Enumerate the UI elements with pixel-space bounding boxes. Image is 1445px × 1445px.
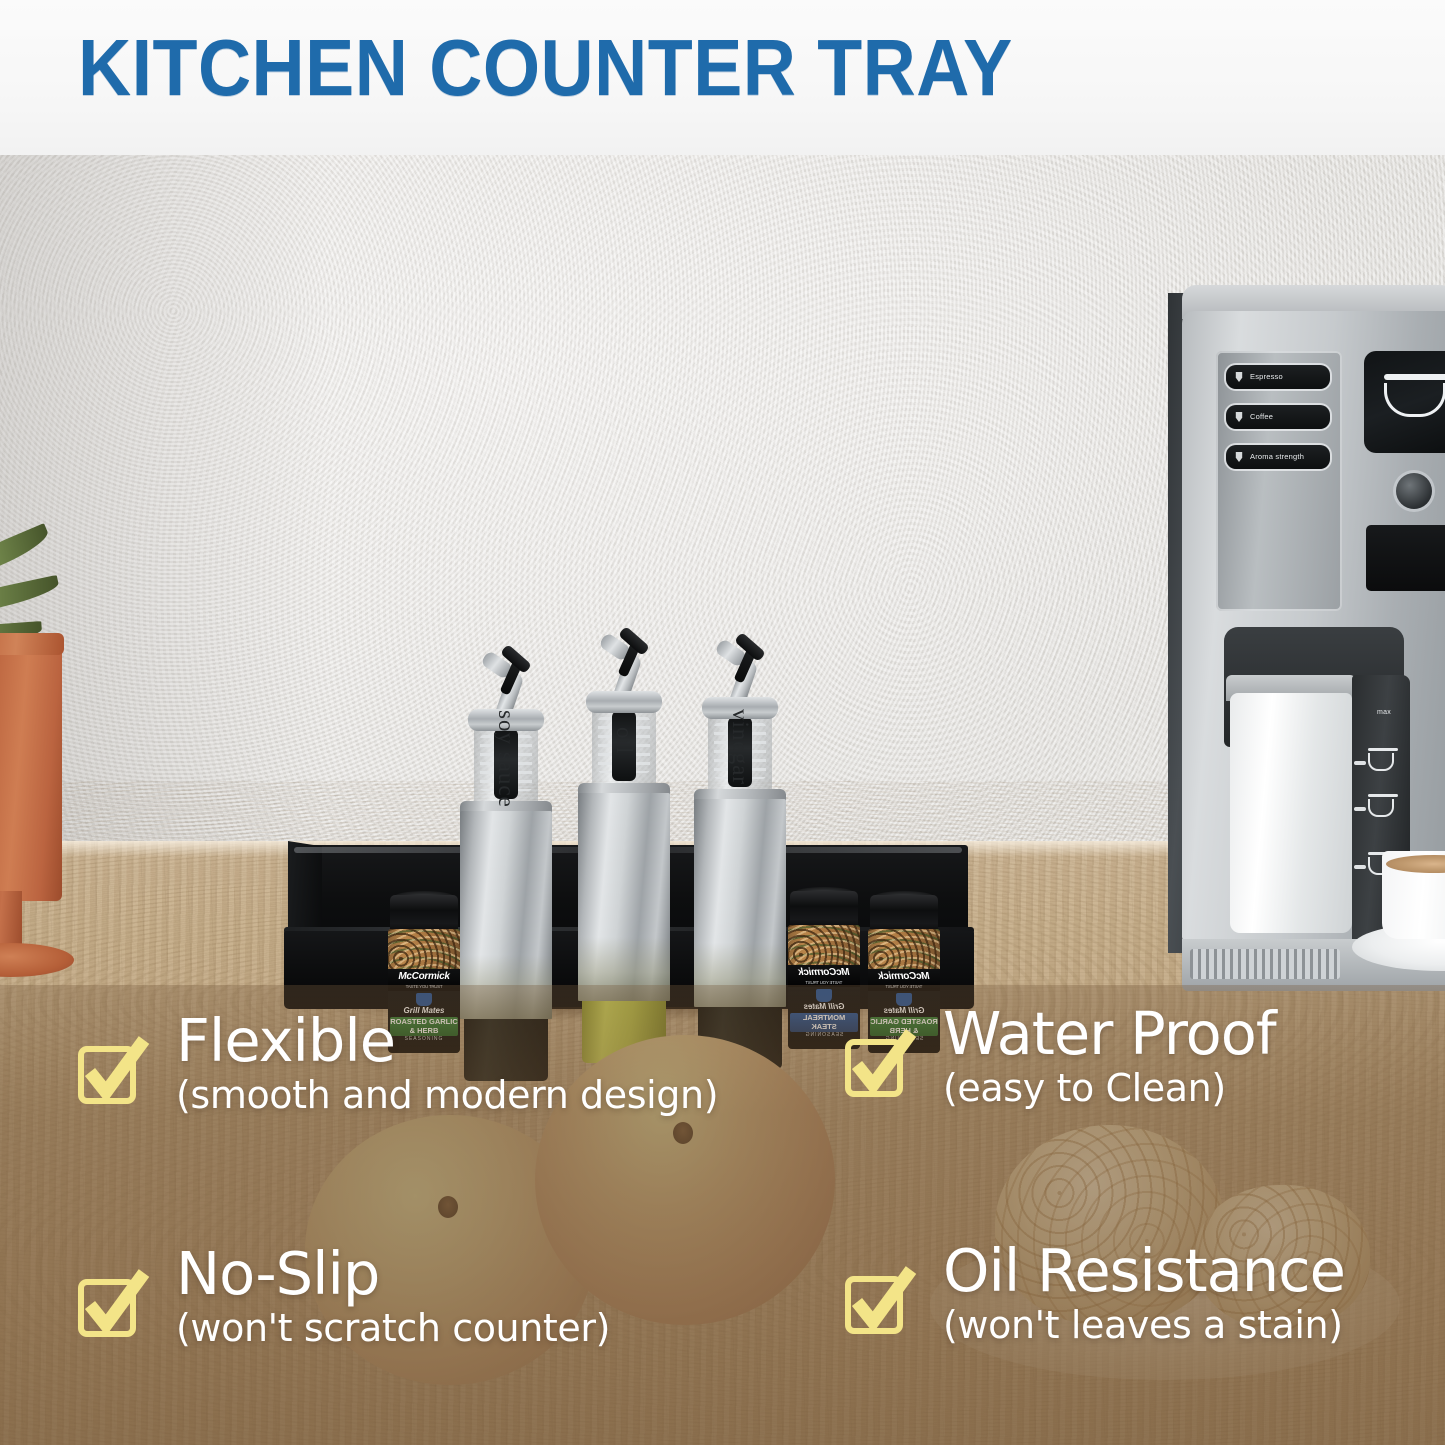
feature-text: Flexible (smooth and modern design) [176,1010,718,1118]
feature-subtitle: (easy to Clean) [943,1065,1276,1111]
feature-title: Flexible [176,1010,718,1072]
feature-text: No-Slip (won't scratch counter) [176,1243,610,1351]
level-dash [1354,761,1366,765]
feature-title: No-Slip [176,1243,610,1305]
page-title: KITCHEN COUNTER TRAY [78,26,1013,110]
max-level-label: max [1358,709,1410,716]
jar-cap [870,895,938,933]
bottle-label: vinegar [694,643,786,851]
feature-subtitle: (won't scratch counter) [176,1305,610,1351]
bottle-label: oil [578,637,670,845]
coffee-cup [1382,851,1445,939]
checkbox-checked-icon [78,1030,154,1108]
feature-text: Water Proof (easy to Clean) [943,1003,1276,1111]
header-band: KITCHEN COUNTER TRAY [0,0,1445,155]
level-dash [1354,865,1366,869]
check-mark [80,1269,152,1337]
check-mark [80,1036,152,1104]
jar-brand-name: McCormick [878,971,929,982]
terracotta-pot [0,633,62,901]
checkbox-checked-icon [845,1260,921,1338]
jar-brand: McCormick TASTE YOU TRUST [788,965,860,987]
bottle-label: soy sauce [460,655,552,863]
machine-button-panel: Espresso Coffee Aroma strength [1216,351,1342,611]
jar-cap [790,891,858,929]
check-mark [847,1266,919,1334]
latte-icon[interactable] [1368,799,1394,817]
drip-grate [1190,949,1340,979]
milk-carafe [1230,693,1352,933]
bottle-label-text: oil [611,727,637,754]
feature-item-flexible: Flexible (smooth and modern design) [78,1010,718,1118]
pot-rim [0,633,64,655]
potted-plant [0,633,62,963]
jar-brand-name: McCormick [798,967,849,978]
jar-cap [390,895,458,933]
coffee-crema [1386,855,1445,873]
feature-subtitle: (smooth and modern design) [176,1072,718,1118]
machine-dispenser-slot [1366,525,1445,591]
level-dash [1354,807,1366,811]
cappuccino-icon[interactable] [1368,753,1394,771]
machine-display [1364,351,1445,453]
checkbox-checked-icon [845,1023,921,1101]
coffee-button[interactable]: Coffee [1226,405,1330,429]
feature-list: Flexible (smooth and modern design) Wate… [0,985,1445,1445]
espresso-machine: Espresso Coffee Aroma strength max [1168,223,1445,1023]
feature-subtitle: (won't leaves a stain) [943,1302,1345,1348]
feature-title: Water Proof [943,1003,1276,1065]
feature-text: Oil Resistance (won't leaves a stain) [943,1240,1345,1348]
check-mark [847,1029,919,1097]
cup-icon [1384,383,1445,417]
aroma-strength-button[interactable]: Aroma strength [1226,445,1330,469]
jar-brand-name: McCormick [398,971,449,982]
checkbox-checked-icon [78,1263,154,1341]
bottle-label-text: soy sauce [493,710,519,808]
feature-item-water-proof: Water Proof (easy to Clean) [845,1003,1276,1111]
espresso-button[interactable]: Espresso [1226,365,1330,389]
machine-knob[interactable] [1396,473,1432,509]
feature-item-oil-resistance: Oil Resistance (won't leaves a stain) [845,1240,1345,1348]
product-infographic: KITCHEN COUNTER TRAY [0,0,1445,1445]
bottle-label-text: vinegar [727,709,753,785]
feature-item-no-slip: No-Slip (won't scratch counter) [78,1243,610,1351]
feature-title: Oil Resistance [943,1240,1345,1302]
